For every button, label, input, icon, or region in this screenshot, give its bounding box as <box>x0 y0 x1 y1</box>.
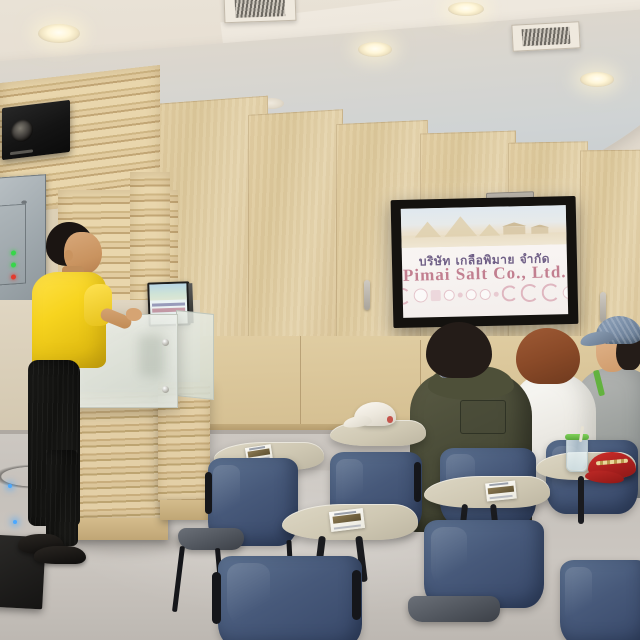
ceiling-downlight <box>358 42 392 57</box>
brochure[interactable] <box>485 480 517 501</box>
brochure-photo <box>332 513 361 523</box>
equipment-led <box>8 484 12 488</box>
certification-logo-icon <box>480 289 491 300</box>
photo-scene: บริษัท เกลือพิมาย จำกัด Pimai Salt Co., … <box>0 0 640 640</box>
certification-logo-icon <box>431 290 441 301</box>
podium-glass-shadow <box>139 335 164 376</box>
panel-seam <box>300 336 301 432</box>
wall-panel-handle[interactable] <box>364 280 370 310</box>
cap-logo <box>387 416 394 423</box>
certification-logo-icon <box>494 291 499 296</box>
podium-base <box>74 392 166 522</box>
ceiling-air-vent <box>511 21 580 52</box>
chair-arm-rail <box>414 462 421 502</box>
slide-photo-salt-pile <box>479 224 501 236</box>
podium-glass-side-panel <box>176 310 214 400</box>
slide-photo-shed <box>532 227 549 234</box>
attendee-hair <box>426 322 492 378</box>
chair-seat[interactable] <box>178 528 244 550</box>
podium-glass-bolt <box>162 386 169 393</box>
ceiling-downlight <box>448 2 484 16</box>
wall-panel-handle[interactable] <box>600 292 606 322</box>
chair-arm-rail <box>212 572 221 624</box>
drink-cup <box>566 438 588 472</box>
podium-plinth <box>72 518 168 540</box>
certification-logo-icon <box>502 285 518 301</box>
desk-support-post <box>578 476 584 524</box>
presenter-hand <box>126 308 142 321</box>
projection-screen: บริษัท เกลือพิมาย จำกัด Pimai Salt Co., … <box>391 196 579 328</box>
ceiling-air-vent <box>224 0 297 23</box>
slide-photo-salt-pile <box>444 216 477 237</box>
presenter-trouser-leg <box>46 450 78 546</box>
certification-logo-icon <box>401 287 412 304</box>
control-panel-door[interactable] <box>0 204 26 285</box>
cap-embroidery <box>596 458 628 465</box>
slide-photo-salt-pile <box>414 221 441 237</box>
ceiling-downlight <box>38 24 80 43</box>
brochure-footer <box>334 524 361 529</box>
jacket-pocket <box>460 400 506 434</box>
slide-surface: บริษัท เกลือพิมาย จำกัด Pimai Salt Co., … <box>401 205 568 318</box>
ceiling-downlight <box>580 72 614 87</box>
wall-speaker <box>2 100 70 160</box>
certification-logo-icon <box>542 284 560 302</box>
slide-photo-shed <box>503 226 525 235</box>
presenter-shoe <box>34 546 86 564</box>
chair-back[interactable] <box>218 556 362 640</box>
cup-liquid <box>568 452 586 470</box>
red-cap <box>588 452 636 478</box>
presenter-ear <box>64 250 73 261</box>
podium-glass-bolt <box>162 339 169 346</box>
certification-logo-icon <box>458 292 463 297</box>
brochure-photo <box>488 485 514 494</box>
monitor-thai-line <box>152 302 185 306</box>
equipment-led <box>13 520 17 524</box>
wall-wood-panel <box>248 109 343 360</box>
certification-logo-icon <box>521 284 539 302</box>
certification-logo-icon <box>563 286 568 299</box>
chair-arm-rail <box>205 472 212 514</box>
brochure-footer <box>490 495 513 499</box>
white-cap <box>354 402 396 426</box>
chair-arm-rail <box>352 570 361 620</box>
chair-seat[interactable] <box>408 596 500 622</box>
slide-banner-photo <box>401 205 567 248</box>
certification-logo-icon <box>414 289 428 303</box>
slide-logo-row <box>412 281 558 308</box>
chair-back[interactable] <box>424 520 544 608</box>
podium-plinth-side <box>160 500 208 520</box>
monitor-slide-photo <box>149 283 187 300</box>
speaker-brand-mark <box>10 149 33 155</box>
speaker-driver-icon <box>11 118 33 143</box>
attendee-hair <box>516 328 580 384</box>
certification-logo-icon <box>444 289 455 300</box>
certification-logo-icon <box>466 289 477 300</box>
cup-lid <box>565 434 589 440</box>
chair-back[interactable] <box>560 560 640 640</box>
brochure[interactable] <box>329 508 365 532</box>
